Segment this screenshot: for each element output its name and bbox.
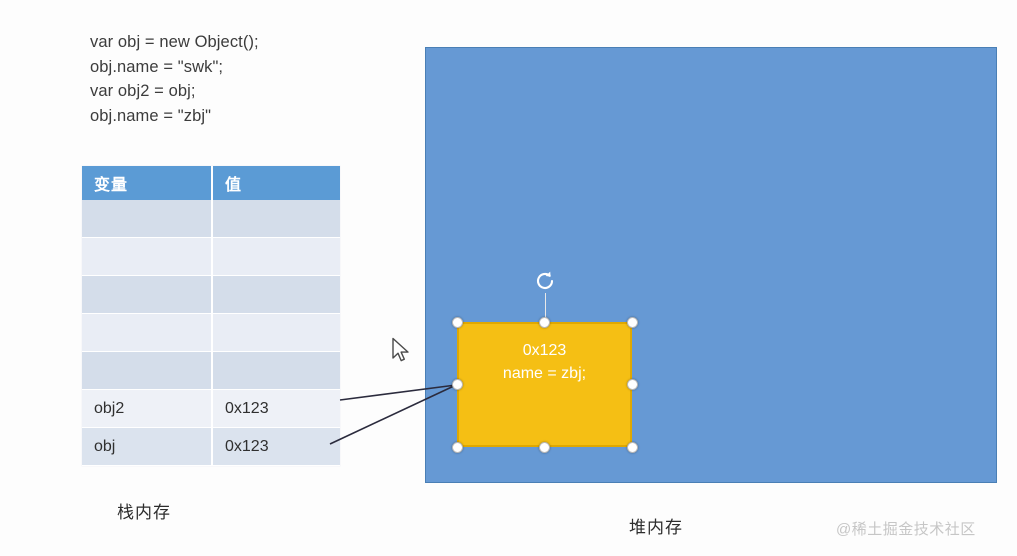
cell-variable <box>82 276 212 314</box>
mouse-cursor-icon <box>391 337 413 365</box>
heap-object-text: 0x123 name = zbj; <box>459 339 630 385</box>
cell-variable <box>82 314 212 352</box>
resize-handle-bottom-left[interactable] <box>452 442 463 453</box>
resize-handle-middle-right[interactable] <box>627 379 638 390</box>
cell-value <box>212 314 340 352</box>
table-row-empty <box>82 238 340 276</box>
cell-value <box>212 276 340 314</box>
column-header-variable: 变量 <box>82 166 212 200</box>
table-row-empty <box>82 314 340 352</box>
table-row-empty <box>82 200 340 238</box>
cell-value: 0x123 <box>212 390 340 428</box>
table-row: obj2 0x123 <box>82 390 340 428</box>
code-snippet: var obj = new Object(); obj.name = "swk"… <box>90 30 259 128</box>
resize-handle-top-center[interactable] <box>539 317 550 328</box>
resize-handle-bottom-right[interactable] <box>627 442 638 453</box>
heap-object-address: 0x123 <box>459 339 630 362</box>
cell-variable <box>82 352 212 390</box>
stack-memory-table: 变量 值 obj2 0x123 obj 0x123 <box>82 166 340 466</box>
cell-variable <box>82 238 212 276</box>
stack-memory-label: 栈内存 <box>117 498 171 523</box>
heap-memory-label: 堆内存 <box>629 513 683 538</box>
rotate-icon[interactable] <box>533 269 557 293</box>
column-header-value: 值 <box>212 166 340 200</box>
resize-handle-top-right[interactable] <box>627 317 638 328</box>
heap-object-shape[interactable]: 0x123 name = zbj; <box>457 322 632 447</box>
table-header-row: 变量 值 <box>82 166 340 200</box>
code-line-1: var obj = new Object(); <box>90 30 259 55</box>
cell-value <box>212 352 340 390</box>
cell-variable: obj <box>82 428 212 466</box>
code-line-4: obj.name = "zbj" <box>90 104 259 129</box>
table-row-empty <box>82 352 340 390</box>
cell-variable <box>82 200 212 238</box>
resize-handle-middle-left[interactable] <box>452 379 463 390</box>
resize-handle-top-left[interactable] <box>452 317 463 328</box>
heap-object-property: name = zbj; <box>459 362 630 385</box>
cell-variable: obj2 <box>82 390 212 428</box>
cell-value <box>212 238 340 276</box>
resize-handle-bottom-center[interactable] <box>539 442 550 453</box>
cell-value: 0x123 <box>212 428 340 466</box>
slide-canvas: var obj = new Object(); obj.name = "swk"… <box>0 0 1017 556</box>
table-row: obj 0x123 <box>82 428 340 466</box>
code-line-3: var obj2 = obj; <box>90 79 259 104</box>
watermark-text: @稀土掘金技术社区 <box>836 518 976 539</box>
code-line-2: obj.name = "swk"; <box>90 55 259 80</box>
table-row-empty <box>82 276 340 314</box>
cell-value <box>212 200 340 238</box>
